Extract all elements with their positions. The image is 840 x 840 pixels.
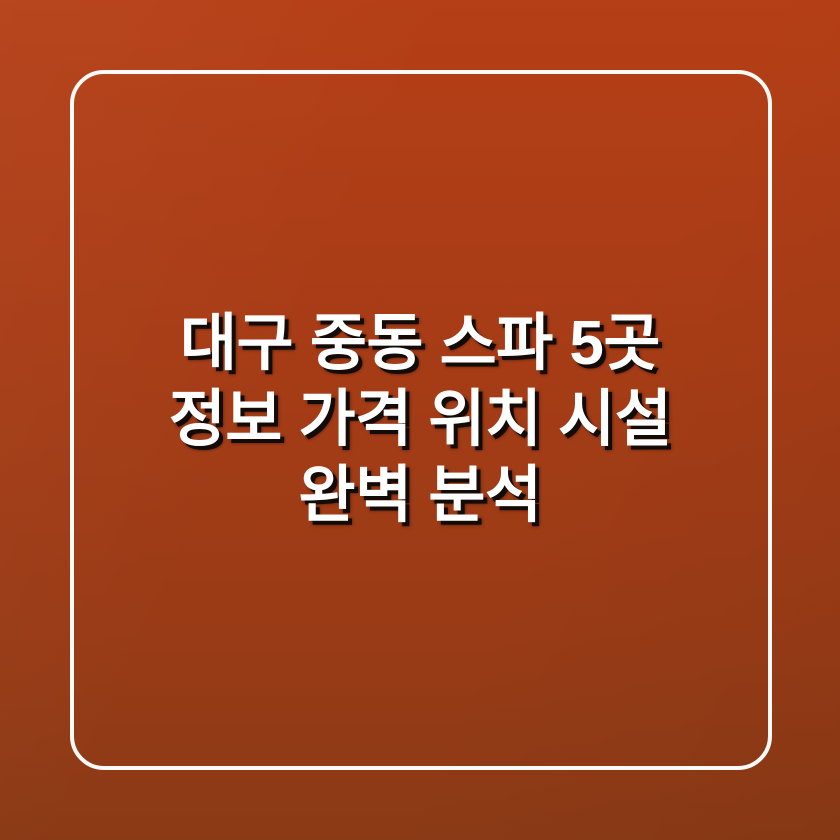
title-line-2: 정보 가격 위치 시설 xyxy=(86,382,754,458)
title-line-1: 대구 중동 스파 5곳 xyxy=(86,306,754,382)
page-title: 대구 중동 스파 5곳 정보 가격 위치 시설 완벽 분석 xyxy=(0,0,840,840)
title-line-3: 완벽 분석 xyxy=(86,458,754,534)
poster-canvas: 대구 중동 스파 5곳 정보 가격 위치 시설 완벽 분석 xyxy=(0,0,840,840)
